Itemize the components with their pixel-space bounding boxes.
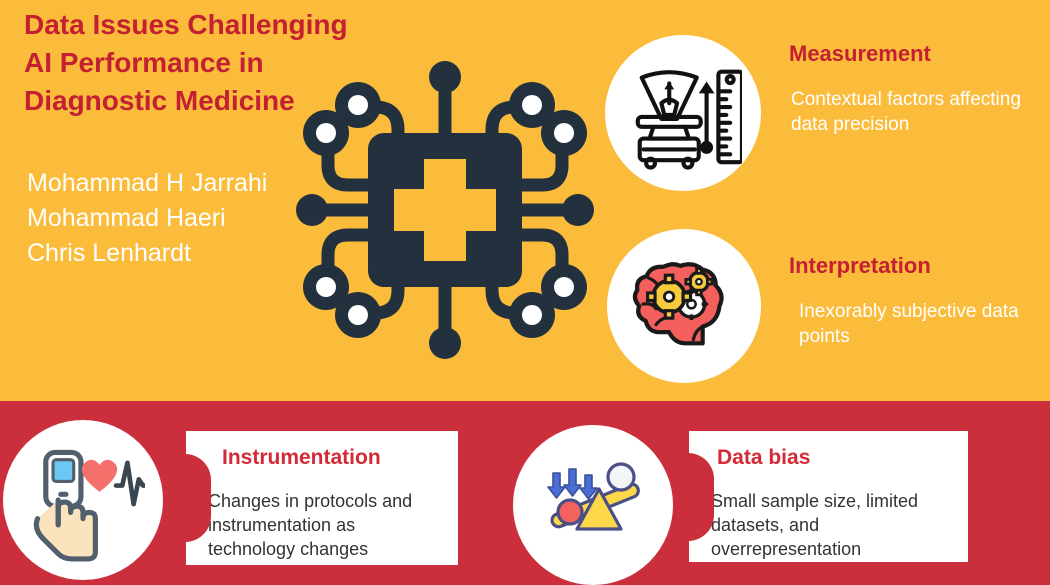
medical-ai-chip-icon (290, 55, 600, 365)
issue-heading-interpretation: Interpretation (789, 252, 1049, 280)
issue-heading-measurement: Measurement (789, 40, 1049, 68)
issue-body-instrumentation: Changes in protocols and instrumentation… (208, 489, 442, 561)
issue-block-interpretation: Interpretation Inexorably subjective dat… (789, 252, 1049, 368)
issue-body-databias: Small sample size, limited datasets, and… (711, 489, 952, 561)
brain-gears-icon (607, 229, 761, 383)
infographic-poster: Data Issues Challenging AI Performance i… (0, 0, 1050, 585)
issue-heading-instrumentation: Instrumentation (222, 445, 442, 471)
pulse-oximeter-heartbeat-icon (3, 420, 163, 580)
issue-card-databias: Data bias Small sample size, limited dat… (689, 431, 968, 562)
issue-body-measurement: Contextual factors affecting data precis… (791, 87, 1049, 137)
weighing-scale-ruler-icon (605, 35, 761, 191)
unbalanced-seesaw-icon (513, 425, 673, 585)
issue-card-instrumentation: Instrumentation Changes in protocols and… (186, 431, 458, 565)
issue-block-measurement: Measurement Contextual factors affecting… (789, 40, 1049, 156)
issue-body-interpretation: Inexorably subjective data points (799, 299, 1049, 349)
issue-heading-databias: Data bias (717, 445, 952, 471)
title-line-1: Data Issues Challenging (24, 6, 584, 44)
